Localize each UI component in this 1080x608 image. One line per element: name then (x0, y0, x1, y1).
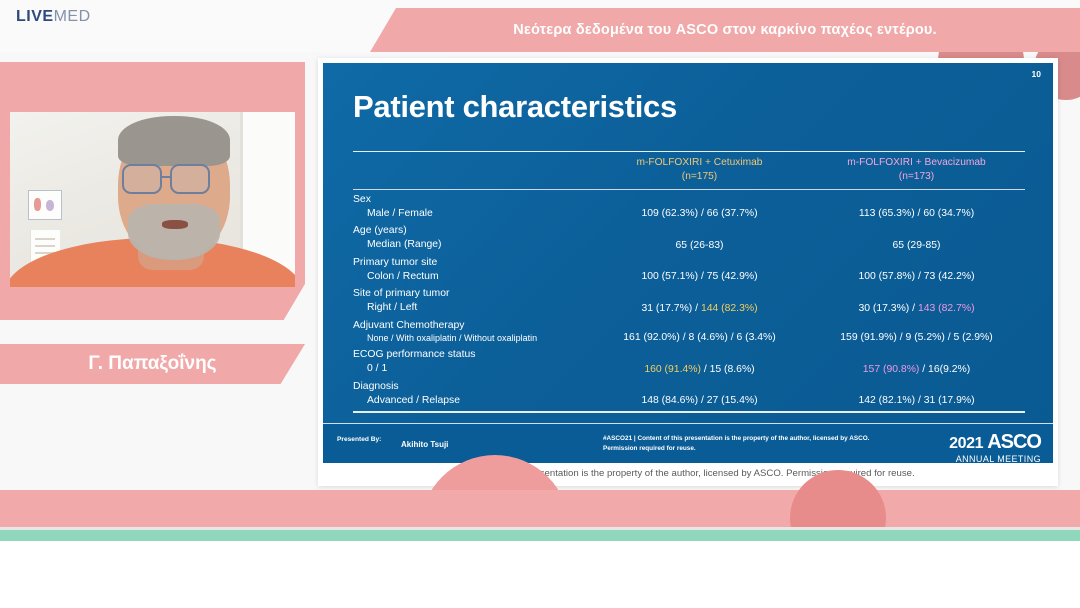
table-row: Age (years) Median (Range) 65 (26-83) 65… (353, 221, 1025, 252)
asco-logo-sub: ANNUAL MEETING (949, 454, 1041, 464)
table-header-label-cell (353, 156, 591, 184)
table-row: Sex Male / Female 109 (62.3%) / 66 (37.7… (353, 190, 1025, 221)
table-header-col-2: m-FOLFOXIRI + Bevacizumab (n=173) (808, 156, 1025, 184)
value-prefix: 30 (17.3%) / (858, 303, 918, 314)
rights-line-1: #ASCO21 | Content of this presentation i… (603, 434, 933, 444)
row-label: Sex Male / Female (353, 193, 591, 220)
table-header-col-1: m-FOLFOXIRI + Cetuximab (n=175) (591, 156, 808, 184)
table-header-row: m-FOLFOXIRI + Cetuximab (n=175) m-FOLFOX… (353, 152, 1025, 189)
glasses-right-lens (170, 164, 210, 194)
table-row: Site of primary tumor Right / Left 31 (1… (353, 284, 1025, 315)
row-value-col2: 30 (17.3%) / 143 (82.7%) (808, 303, 1025, 315)
row-sub-label: Median (Range) (353, 238, 591, 252)
value-highlight: 144 (82.3%) (701, 303, 758, 314)
row-value-col2: 113 (65.3%) / 60 (34.7%) (808, 208, 1025, 220)
col1-title: m-FOLFOXIRI + Cetuximab (591, 156, 808, 170)
bottom-mint-strip (0, 530, 1080, 541)
wall-picture-frame (28, 190, 62, 220)
col2-title: m-FOLFOXIRI + Bevacizumab (808, 156, 1025, 170)
row-group-label: Primary tumor site (353, 256, 591, 270)
speaker-beard (128, 204, 220, 260)
speaker-video[interactable] (10, 112, 295, 287)
slide-caption: Content of this presentation is the prop… (318, 468, 1058, 479)
value-highlight: 143 (82.7%) (918, 303, 975, 314)
row-value-col2: 157 (90.8%) / 16(9.2%) (808, 364, 1025, 376)
livemed-logo[interactable]: LIVEMED (16, 8, 91, 26)
row-value-col1: 31 (17.7%) / 144 (82.3%) (591, 303, 808, 315)
row-value-col2: 65 (29-85) (808, 240, 1025, 252)
row-sub-label: Advanced / Relapse (353, 394, 591, 408)
glasses-bridge (162, 176, 172, 178)
conference-banner: ΕΛΛΗΝΙΚΗ ΕΤΑΙΡΕΙΑ ΚΑΡΚΙΝΟΥ ΚΕΦΑΛΗΣ & ΤΡΑ… (0, 541, 1080, 608)
presented-by-label: Presented By: (337, 436, 381, 443)
row-group-label: Age (years) (353, 224, 591, 238)
table-rule-bottom (353, 411, 1025, 412)
screen: LIVEMED Νεότερα δεδομένα του ASCO στον κ… (0, 0, 1080, 608)
row-label: Diagnosis Advanced / Relapse (353, 380, 591, 407)
row-value-col2: 142 (82.1%) / 31 (17.9%) (808, 395, 1025, 407)
row-group-label: Adjuvant Chemotherapy (353, 319, 591, 333)
asco-logo: 2021 ASCO ANNUAL MEETING (949, 432, 1041, 464)
row-value-col2: 159 (91.9%) / 9 (5.2%) / 5 (2.9%) (808, 332, 1025, 344)
col1-n: (n=175) (591, 170, 808, 184)
row-value-col1: 148 (84.6%) / 27 (15.4%) (591, 395, 808, 407)
row-value-col1: 65 (26-83) (591, 240, 808, 252)
logo-live: LIVE (16, 8, 54, 25)
value-suffix: / 15 (8.6%) (701, 364, 755, 375)
glasses-left-lens (122, 164, 162, 194)
row-group-label: ECOG performance status (353, 348, 591, 362)
top-bar: LIVEMED Νεότερα δεδομένα του ASCO στον κ… (0, 0, 1080, 52)
row-group-label: Diagnosis (353, 380, 591, 394)
slide-container[interactable]: 10 Patient characteristics m-FOLFOXIRI +… (318, 58, 1058, 486)
col2-n: (n=173) (808, 170, 1025, 184)
speaker-name-bar: Γ. Παπαξοΐνης (0, 344, 305, 384)
presenter-name: Akihito Tsuji (401, 440, 448, 449)
row-sub-label: 0 / 1 (353, 362, 591, 376)
slide-footer: Presented By: Akihito Tsuji #ASCO21 | Co… (323, 423, 1053, 463)
speaker-hair (118, 116, 230, 166)
row-sub-label: Male / Female (353, 207, 591, 221)
row-label: Adjuvant Chemotherapy None / With oxalip… (353, 319, 591, 345)
row-value-col2: 100 (57.8%) / 73 (42.2%) (808, 271, 1025, 283)
row-sub-label: None / With oxaliplatin / Without oxalip… (353, 333, 591, 345)
row-sub-label: Right / Left (353, 301, 591, 315)
session-title-text: Νεότερα δεδομένα του ASCO στον καρκίνο π… (513, 22, 937, 38)
table-row: Primary tumor site Colon / Rectum 100 (5… (353, 253, 1025, 284)
value-suffix: / 16(9.2%) (919, 364, 970, 375)
row-label: Age (years) Median (Range) (353, 224, 591, 251)
row-value-col1: 161 (92.0%) / 8 (4.6%) / 6 (3.4%) (591, 332, 808, 344)
asco-year: 2021 (949, 435, 983, 452)
row-group-label: Site of primary tumor (353, 287, 591, 301)
row-label: Site of primary tumor Right / Left (353, 287, 591, 314)
bottom-pink-band (0, 490, 1080, 532)
slide-title: Patient characteristics (353, 89, 677, 125)
row-label: ECOG performance status 0 / 1 (353, 348, 591, 375)
table-row: Adjuvant Chemotherapy None / With oxalip… (353, 316, 1025, 346)
value-highlight: 157 (90.8%) (863, 364, 920, 375)
slide: 10 Patient characteristics m-FOLFOXIRI +… (323, 63, 1053, 463)
speaker-mouth (162, 220, 188, 229)
row-value-col1: 100 (57.1%) / 75 (42.9%) (591, 271, 808, 283)
row-label: Primary tumor site Colon / Rectum (353, 256, 591, 283)
asco-logo-top: 2021 ASCO (949, 432, 1041, 452)
slide-number: 10 (1032, 69, 1041, 79)
row-value-col1: 109 (62.3%) / 66 (37.7%) (591, 208, 808, 220)
value-highlight: 160 (91.4%) (644, 364, 701, 375)
patient-characteristics-table: m-FOLFOXIRI + Cetuximab (n=175) m-FOLFOX… (353, 151, 1025, 413)
logo-med: MED (54, 8, 91, 25)
table-row: ECOG performance status 0 / 1 160 (91.4%… (353, 345, 1025, 376)
row-value-col1: 160 (91.4%) / 15 (8.6%) (591, 364, 808, 376)
rights-line-2: Permission required for reuse. (603, 444, 933, 454)
speaker-panel[interactable]: Γ. Παπαξοΐνης (0, 62, 305, 320)
row-group-label: Sex (353, 193, 591, 207)
asco-rights-note: #ASCO21 | Content of this presentation i… (603, 434, 933, 453)
row-sub-label: Colon / Rectum (353, 270, 591, 284)
asco-name: ASCO (987, 431, 1041, 453)
speaker-name-text: Γ. Παπαξοΐνης (88, 353, 216, 375)
value-prefix: 31 (17.7%) / (641, 303, 701, 314)
session-title-banner: Νεότερα δεδομένα του ASCO στον καρκίνο π… (370, 8, 1080, 52)
table-row: Diagnosis Advanced / Relapse 148 (84.6%)… (353, 377, 1025, 408)
